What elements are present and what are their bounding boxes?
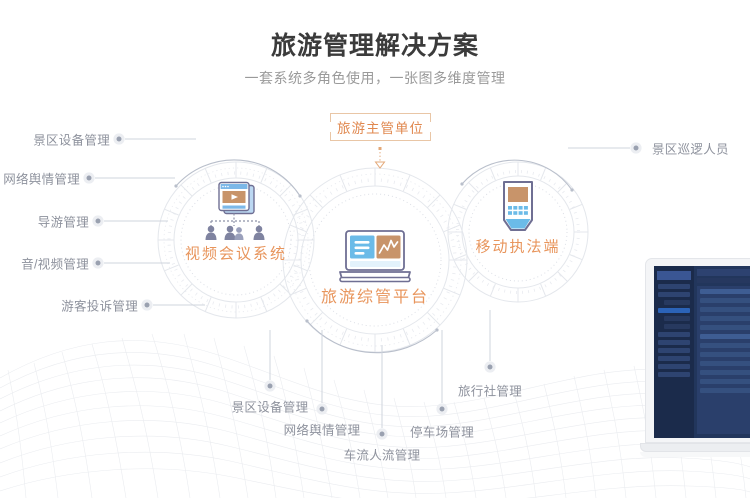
- mockup-menu-item: [658, 348, 690, 353]
- mockup-menu-item: [664, 300, 690, 305]
- badge-arrow: [376, 147, 385, 168]
- node-label-right-0[interactable]: 景区巡逻人员: [652, 139, 729, 158]
- mockup-menu-item: [664, 324, 690, 329]
- mockup-screen: [654, 266, 750, 438]
- mockup-menu-item: [658, 356, 690, 361]
- page-title: 旅游管理解决方案: [0, 26, 750, 62]
- mockup-menu-item: [658, 340, 690, 345]
- center-circle-caption: 旅游综管平台: [321, 283, 429, 307]
- mockup-tree-panel: [697, 286, 750, 434]
- node-label-bottom-0[interactable]: 景区设备管理: [232, 397, 309, 416]
- node-label-left-0[interactable]: 景区设备管理: [33, 130, 110, 149]
- node-label-bottom-1[interactable]: 网络舆情管理: [284, 420, 361, 439]
- mockup-tabbar: [697, 278, 750, 283]
- page-subtitle: 一套系统多角色使用，一张图多维度管理: [0, 68, 750, 88]
- mockup-menu-item: [658, 364, 690, 369]
- node-label-bottom-2[interactable]: 车流人流管理: [344, 445, 421, 464]
- mockup-menu-item: [658, 332, 690, 337]
- mockup-lid: [645, 258, 750, 443]
- node-label-bottom-3[interactable]: 停车场管理: [410, 422, 474, 441]
- node-label-bottom-4[interactable]: 旅行社管理: [458, 381, 522, 400]
- mockup-body: [697, 286, 750, 434]
- mockup-menu-item: [658, 292, 690, 297]
- mockup-menu-item: [658, 284, 690, 289]
- mockup-menu-item-active: [658, 308, 690, 313]
- left-node-dots: [83, 133, 152, 310]
- laptop-dashboard-mockup: [645, 258, 750, 488]
- mockup-topbar: [697, 269, 750, 276]
- node-label-left-4[interactable]: 游客投诉管理: [61, 296, 138, 315]
- laptop-dashboard-icon: [329, 228, 421, 288]
- mockup-base: [640, 443, 750, 452]
- node-label-left-3[interactable]: 音/视频管理: [21, 254, 89, 273]
- node-label-left-1[interactable]: 网络舆情管理: [3, 169, 80, 188]
- right-circle-caption: 移动执法端: [475, 236, 560, 257]
- mockup-foot: [640, 452, 750, 457]
- right-node-dots: [630, 142, 641, 153]
- mockup-content: [694, 266, 750, 438]
- mobile-enforcement-icon: [494, 178, 542, 238]
- left-circle-caption: 视频会议系统: [185, 243, 287, 264]
- mockup-brand: [657, 271, 691, 280]
- mockup-menu-item: [658, 372, 690, 377]
- authority-badge[interactable]: 旅游主管单位: [330, 113, 431, 141]
- mockup-sidebar: [654, 266, 694, 438]
- authority-badge-label: 旅游主管单位: [335, 117, 426, 137]
- video-conference-icon: [194, 180, 278, 246]
- infographic-canvas: 旅游管理解决方案 一套系统多角色使用，一张图多维度管理 旅游主管单位: [0, 0, 750, 498]
- node-label-left-2[interactable]: 导游管理: [38, 212, 89, 231]
- mockup-menu-item: [664, 316, 690, 321]
